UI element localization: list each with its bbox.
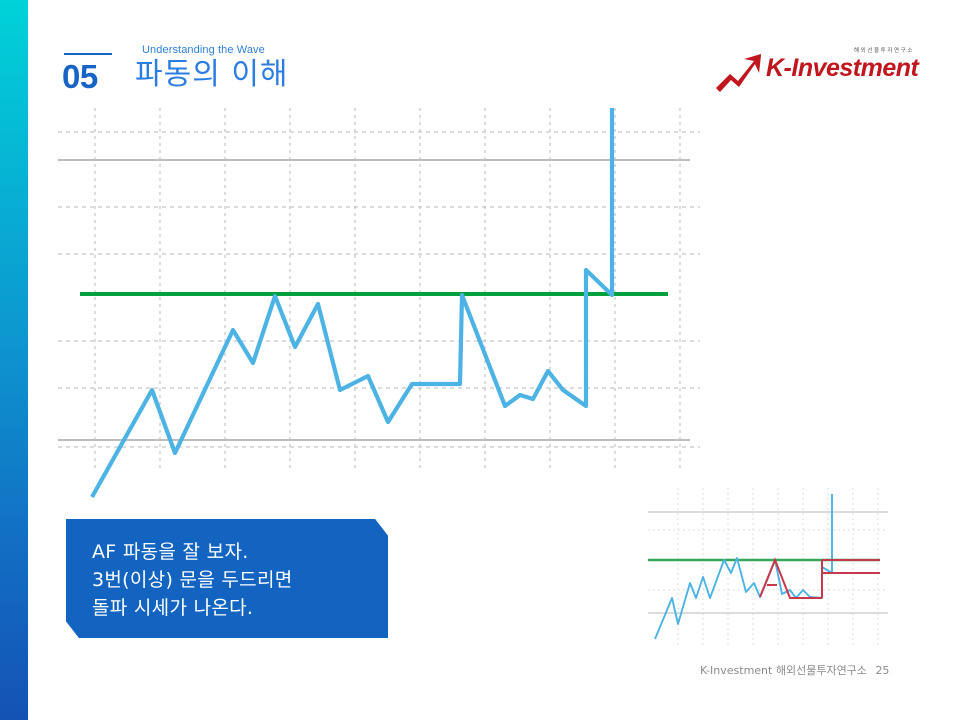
thumbnail-wave-chart <box>640 480 900 660</box>
footer-brand: K-Investment <box>700 664 772 677</box>
callout-line-3: 돌파 시세가 나온다. <box>92 594 388 622</box>
slide-number: 05 <box>62 60 98 93</box>
title-rule <box>64 53 112 55</box>
thumb-chart-gridlines <box>648 488 888 645</box>
logo-wordmark: K-Investment <box>766 54 918 83</box>
slide-canvas: Understanding the Wave 05 파동의 이해 해외선물투자연… <box>0 0 960 720</box>
callout-line-1: AF 파동을 잘 보자. <box>92 538 388 566</box>
callout-line-2: 3번(이상) 문을 두드리면 <box>92 566 388 594</box>
thumb-price-line <box>655 494 832 639</box>
price-line <box>92 108 612 497</box>
logo-sub-text: 해외선물투자연구소 <box>854 46 914 54</box>
slide-eyebrow: Understanding the Wave <box>142 44 265 56</box>
footer-org: 해외선물투자연구소 <box>776 664 867 677</box>
up-arrow-icon <box>714 52 764 92</box>
callout-box: AF 파동을 잘 보자. 3번(이상) 문을 두드리면 돌파 시세가 나온다. <box>66 519 388 638</box>
page-title: 파동의 이해 <box>135 60 289 90</box>
slide-footer: K-Investment 해외선물투자연구소 25 <box>700 662 889 678</box>
brand-logo: 해외선물투자연구소 K-Investment <box>714 46 918 90</box>
page-number: 25 <box>875 664 889 677</box>
